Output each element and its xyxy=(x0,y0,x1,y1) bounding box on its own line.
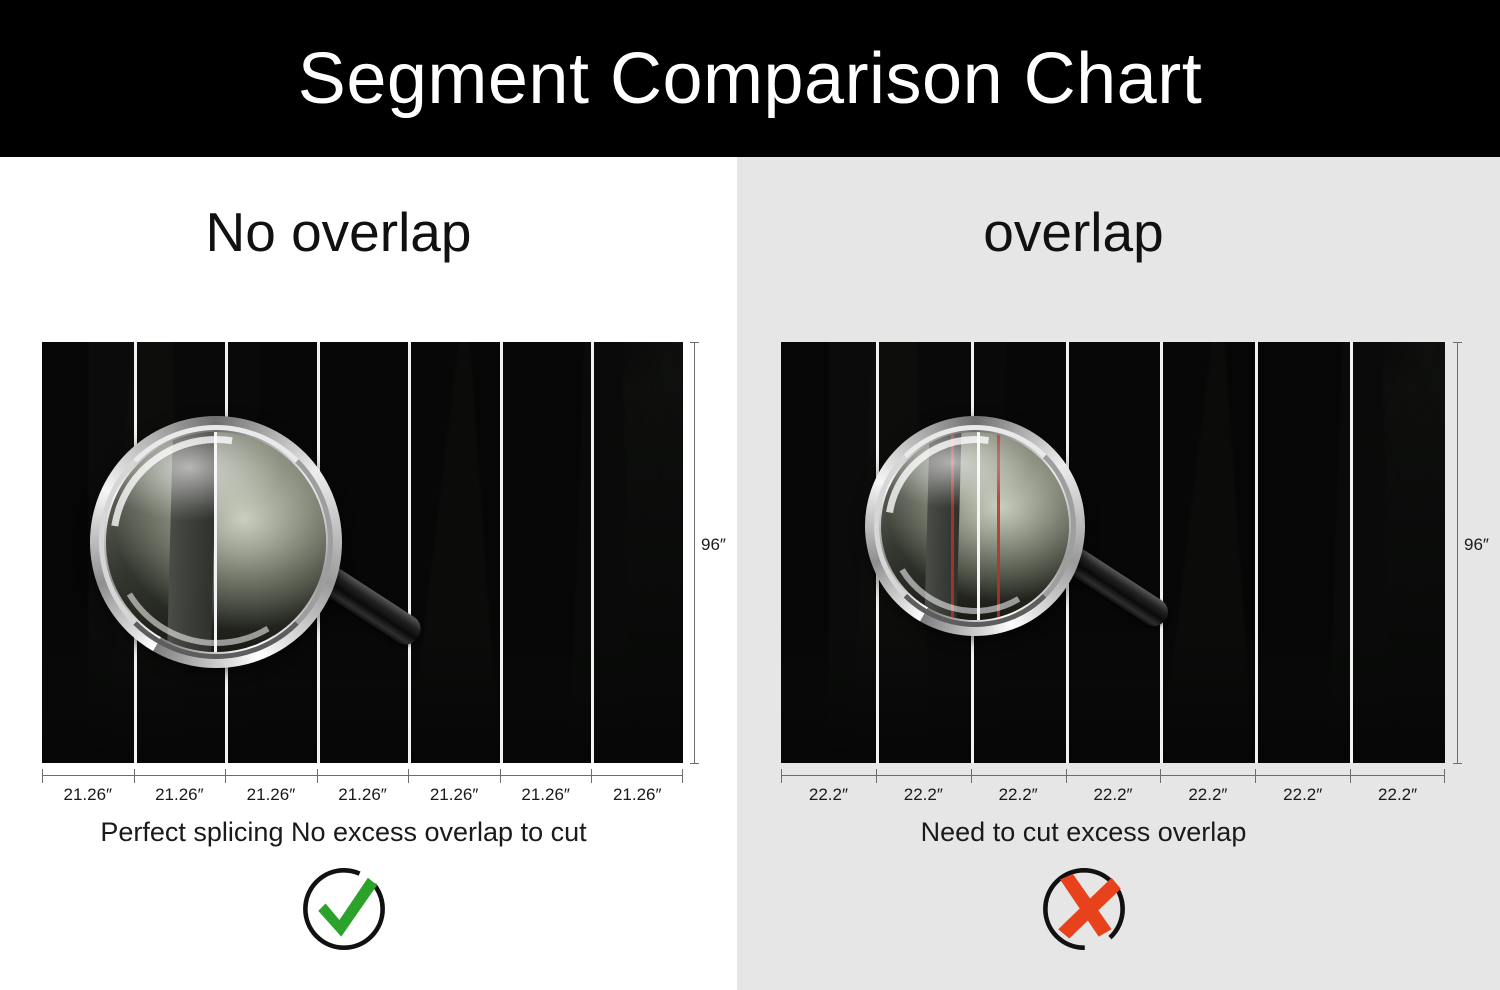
caption-right: Need to cut excess overlap xyxy=(737,817,1500,848)
verdict-left xyxy=(0,863,737,955)
segment-label: 22.2″ xyxy=(1350,785,1445,805)
mural-strip-right: 22.2″ 22.2″ 22.2″ 22.2″ 22.2″ 22.2″ 22.2… xyxy=(781,342,1445,805)
segment-label: 22.2″ xyxy=(876,785,971,805)
panel-heading-right: overlap xyxy=(737,205,1500,260)
segment-label: 21.26″ xyxy=(317,785,409,805)
magnifier-right xyxy=(865,416,1085,636)
verdict-right xyxy=(737,863,1500,955)
width-ruler-right xyxy=(781,769,1445,783)
segment-comparison-chart: Segment Comparison Chart No overlap xyxy=(0,0,1500,990)
magnifier-lens xyxy=(106,432,326,652)
comparison-panels: No overlap xyxy=(0,157,1500,990)
segment-label: 22.2″ xyxy=(781,785,876,805)
page-title: Segment Comparison Chart xyxy=(298,43,1202,115)
magnifier-left xyxy=(90,416,342,668)
check-icon xyxy=(298,863,390,955)
width-ruler-left xyxy=(42,769,683,783)
segment-label: 21.26″ xyxy=(134,785,226,805)
segment-label: 21.26″ xyxy=(225,785,317,805)
segment-label: 22.2″ xyxy=(1160,785,1255,805)
segment-labels-left: 21.26″ 21.26″ 21.26″ 21.26″ 21.26″ 21.26… xyxy=(42,785,683,805)
segment-label: 22.2″ xyxy=(1066,785,1161,805)
segment-label: 21.26″ xyxy=(591,785,683,805)
segment-label: 22.2″ xyxy=(1255,785,1350,805)
segment-label: 21.26″ xyxy=(408,785,500,805)
panel-overlap: overlap xyxy=(737,157,1500,990)
segment-labels-right: 22.2″ 22.2″ 22.2″ 22.2″ 22.2″ 22.2″ 22.2… xyxy=(781,785,1445,805)
forest-photo-left xyxy=(42,342,683,763)
panel-no-overlap: No overlap xyxy=(0,157,737,990)
cross-icon xyxy=(1038,863,1130,955)
header-bar: Segment Comparison Chart xyxy=(0,0,1500,157)
height-label: 96″ xyxy=(1464,535,1489,555)
panel-heading-left: No overlap xyxy=(0,205,737,260)
mural-strip-left: 21.26″ 21.26″ 21.26″ 21.26″ 21.26″ 21.26… xyxy=(42,342,683,805)
segment-label: 22.2″ xyxy=(971,785,1066,805)
segment-label: 21.26″ xyxy=(500,785,592,805)
forest-photo-right xyxy=(781,342,1445,763)
magnifier-lens xyxy=(881,432,1069,620)
caption-left: Perfect splicing No excess overlap to cu… xyxy=(0,817,737,848)
segment-label: 21.26″ xyxy=(42,785,134,805)
height-label: 96″ xyxy=(701,535,726,555)
